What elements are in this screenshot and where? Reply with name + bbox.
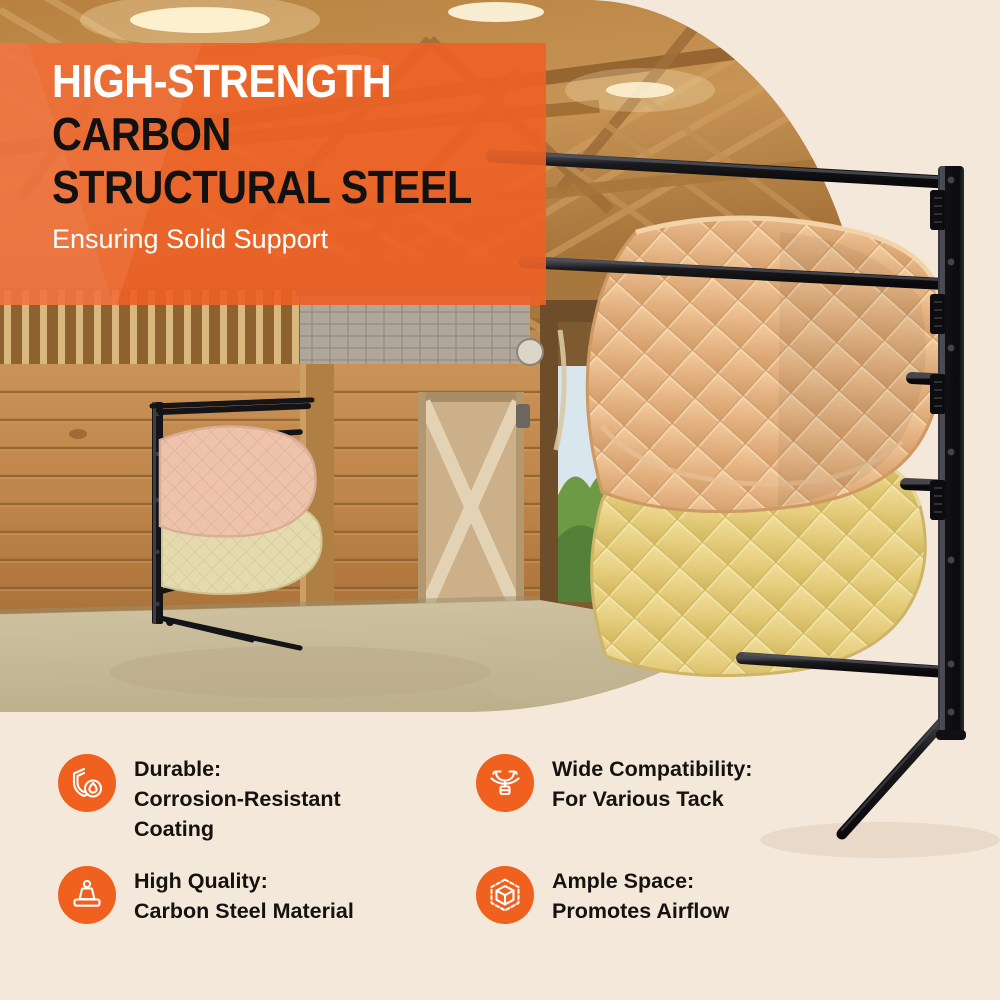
headline-banner: HIGH-STRENGTH CARBON STRUCTURAL STEEL En…: [0, 43, 546, 305]
feature-text-quality: High Quality: Carbon Steel Material: [134, 864, 354, 926]
feature-title: Wide Compatibility:: [552, 754, 752, 784]
feature-line-2: Corrosion-Resistant: [134, 784, 341, 814]
headline-subtitle: Ensuring Solid Support: [52, 223, 538, 255]
feature-text-compatibility: Wide Compatibility: For Various Tack: [552, 752, 752, 814]
shield-droplet-icon: [58, 754, 116, 812]
feature-title: Ample Space:: [552, 866, 729, 896]
feature-title: High Quality:: [134, 866, 354, 896]
product-infographic: HIGH-STRENGTH CARBON STRUCTURAL STEEL En…: [0, 0, 1000, 1000]
cube-box-icon: [476, 866, 534, 924]
saddle-stirrup-icon: [476, 754, 534, 812]
feature-item-durable: Durable: Corrosion-Resistant Coating: [58, 752, 448, 864]
feature-line-2: Carbon Steel Material: [134, 896, 354, 926]
headline-line-1: HIGH-STRENGTH: [52, 55, 489, 108]
feature-list: Durable: Corrosion-Resistant Coating: [58, 752, 958, 926]
feature-item-compatibility: Wide Compatibility: For Various Tack: [476, 752, 866, 864]
feature-title: Durable:: [134, 754, 341, 784]
weight-platform-icon: [58, 866, 116, 924]
rack-post: [930, 166, 966, 740]
feature-line-2: For Various Tack: [552, 784, 752, 814]
feature-text-space: Ample Space: Promotes Airflow: [552, 864, 729, 926]
feature-item-quality: High Quality: Carbon Steel Material: [58, 864, 448, 926]
headline-line-3: STRUCTURAL STEEL: [52, 161, 489, 214]
feature-line-2: Promotes Airflow: [552, 896, 729, 926]
feature-text-durable: Durable: Corrosion-Resistant Coating: [134, 752, 341, 844]
feature-line-3: Coating: [134, 814, 341, 844]
headline-line-2: CARBON: [52, 108, 489, 161]
feature-item-space: Ample Space: Promotes Airflow: [476, 864, 866, 926]
